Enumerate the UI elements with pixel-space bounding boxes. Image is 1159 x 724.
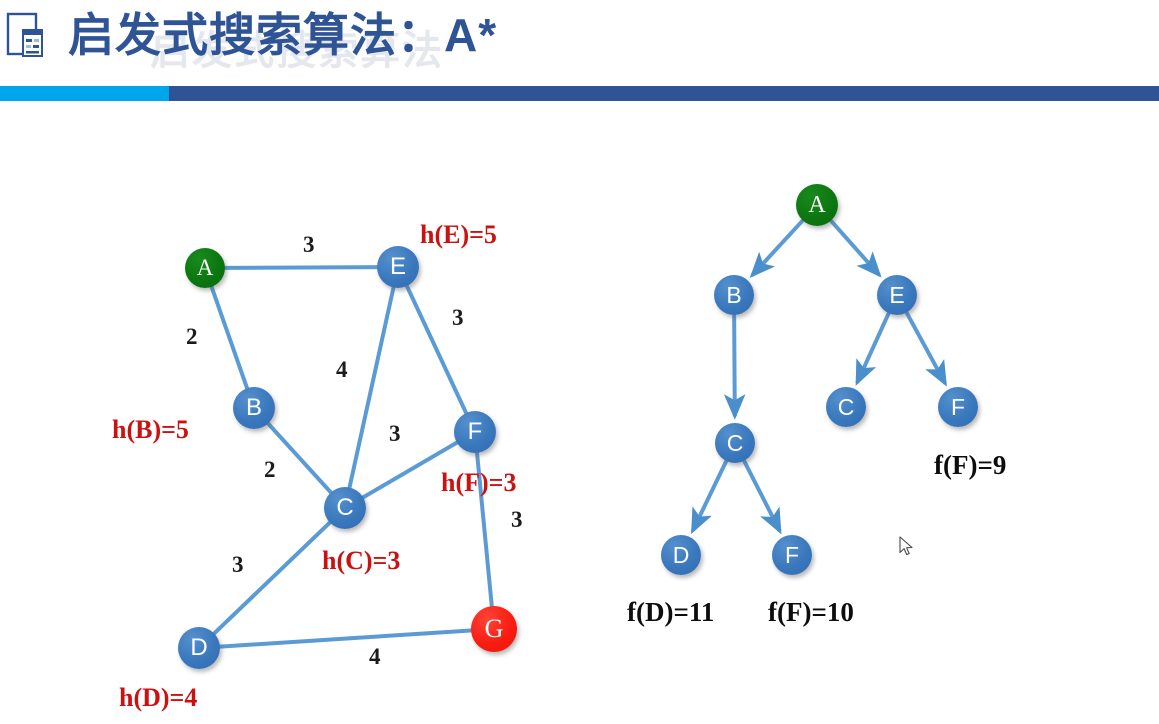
- tree-node-t-d[interactable]: D: [661, 535, 701, 575]
- graph-node-g[interactable]: G: [471, 606, 517, 652]
- tree-edge-t-E-t-C2: [858, 314, 889, 381]
- graph-node-c[interactable]: C: [324, 487, 366, 529]
- graph-edge-e-f: [398, 267, 475, 432]
- heuristic-label-h-e: h(E)=5: [420, 220, 497, 250]
- graph-node-label: E: [390, 253, 406, 281]
- heuristic-label-h-f: h(F)=3: [441, 468, 516, 498]
- edge-weight-c-d: 3: [232, 552, 244, 578]
- tree-node-label: C: [727, 430, 744, 457]
- tree-node-label: D: [673, 542, 690, 569]
- tree-edge-t-B-t-C1: [734, 316, 735, 415]
- graph-edge-e-c: [345, 267, 398, 508]
- graph-node-f[interactable]: F: [454, 411, 496, 453]
- graph-edge-d-g: [199, 629, 494, 648]
- f-value-label-f-f1: f(F)=9: [934, 450, 1006, 481]
- graph-edge-c-d: [199, 508, 345, 648]
- tree-edge-t-E-t-F1: [907, 313, 945, 382]
- tree-node-label: F: [785, 542, 799, 569]
- graph-node-d[interactable]: D: [178, 627, 220, 669]
- edge-weight-a-b: 2: [186, 324, 198, 350]
- f-value-label-f-d: f(D)=11: [627, 597, 714, 628]
- edge-weight-e-f: 3: [452, 305, 464, 331]
- graph-edge-c-f: [345, 432, 475, 508]
- edge-weight-d-g: 4: [369, 644, 381, 670]
- header-rule-accent: [0, 86, 169, 101]
- graph-node-label: F: [468, 418, 483, 446]
- edge-weight-b-c: 2: [264, 457, 276, 483]
- document-icon: [6, 12, 52, 64]
- tree-node-t-a[interactable]: A: [796, 184, 838, 226]
- graph-node-b[interactable]: B: [233, 387, 275, 429]
- tree-node-t-f2[interactable]: F: [772, 535, 812, 575]
- edge-weight-a-e: 3: [303, 232, 315, 258]
- tree-edge-t-A-t-B: [753, 221, 802, 274]
- tree-node-label: E: [889, 282, 904, 309]
- tree-node-label: C: [838, 394, 855, 421]
- graph-node-label: D: [190, 634, 207, 662]
- tree-node-t-e[interactable]: E: [877, 275, 917, 315]
- tree-node-label: B: [726, 282, 741, 309]
- tree-node-t-c1[interactable]: C: [715, 423, 755, 463]
- f-value-label-f-f2: f(F)=10: [768, 597, 854, 628]
- search-tree-panel: ABECCFDF f(F)=9f(D)=11f(F)=10: [0, 0, 1159, 724]
- slide-header: 启发式搜索算法 启发式搜索算法：A*: [0, 0, 1159, 101]
- graph-node-label: C: [336, 494, 353, 522]
- page-title: 启发式搜索算法：A*: [68, 2, 497, 68]
- graph-node-label: B: [246, 394, 262, 422]
- graph-edge-layer: [0, 0, 1159, 724]
- header-rule: [0, 86, 1159, 101]
- graph-node-e[interactable]: E: [377, 246, 419, 288]
- mouse-pointer-icon: [899, 536, 915, 558]
- tree-node-t-b[interactable]: B: [714, 275, 754, 315]
- edge-weight-f-g: 3: [511, 507, 523, 533]
- edge-weight-e-c: 4: [336, 357, 348, 383]
- heuristic-label-h-c: h(C)=3: [322, 546, 400, 576]
- tree-edge-t-C1-t-F2: [745, 462, 780, 530]
- tree-edge-t-A-t-E: [832, 221, 879, 274]
- edge-weight-c-f: 3: [389, 421, 401, 447]
- tree-edge-t-C1-t-D: [693, 462, 726, 530]
- heuristic-label-h-d: h(D)=4: [119, 683, 197, 713]
- graph-node-label: A: [197, 255, 214, 281]
- heuristic-label-h-b: h(B)=5: [112, 415, 189, 445]
- graph-edge-a-e: [205, 267, 398, 268]
- graph-panel: AEBFCDG 324323334 h(E)=5h(B)=5h(F)=3h(C)…: [0, 0, 1159, 724]
- tree-node-t-c2[interactable]: C: [826, 387, 866, 427]
- graph-node-label: G: [485, 614, 504, 644]
- graph-node-a[interactable]: A: [185, 248, 225, 288]
- tree-edge-layer: [0, 0, 1159, 724]
- tree-node-t-f1[interactable]: F: [938, 387, 978, 427]
- tree-node-label: F: [951, 394, 965, 421]
- tree-node-label: A: [808, 192, 825, 219]
- graph-edge-f-g: [475, 432, 494, 629]
